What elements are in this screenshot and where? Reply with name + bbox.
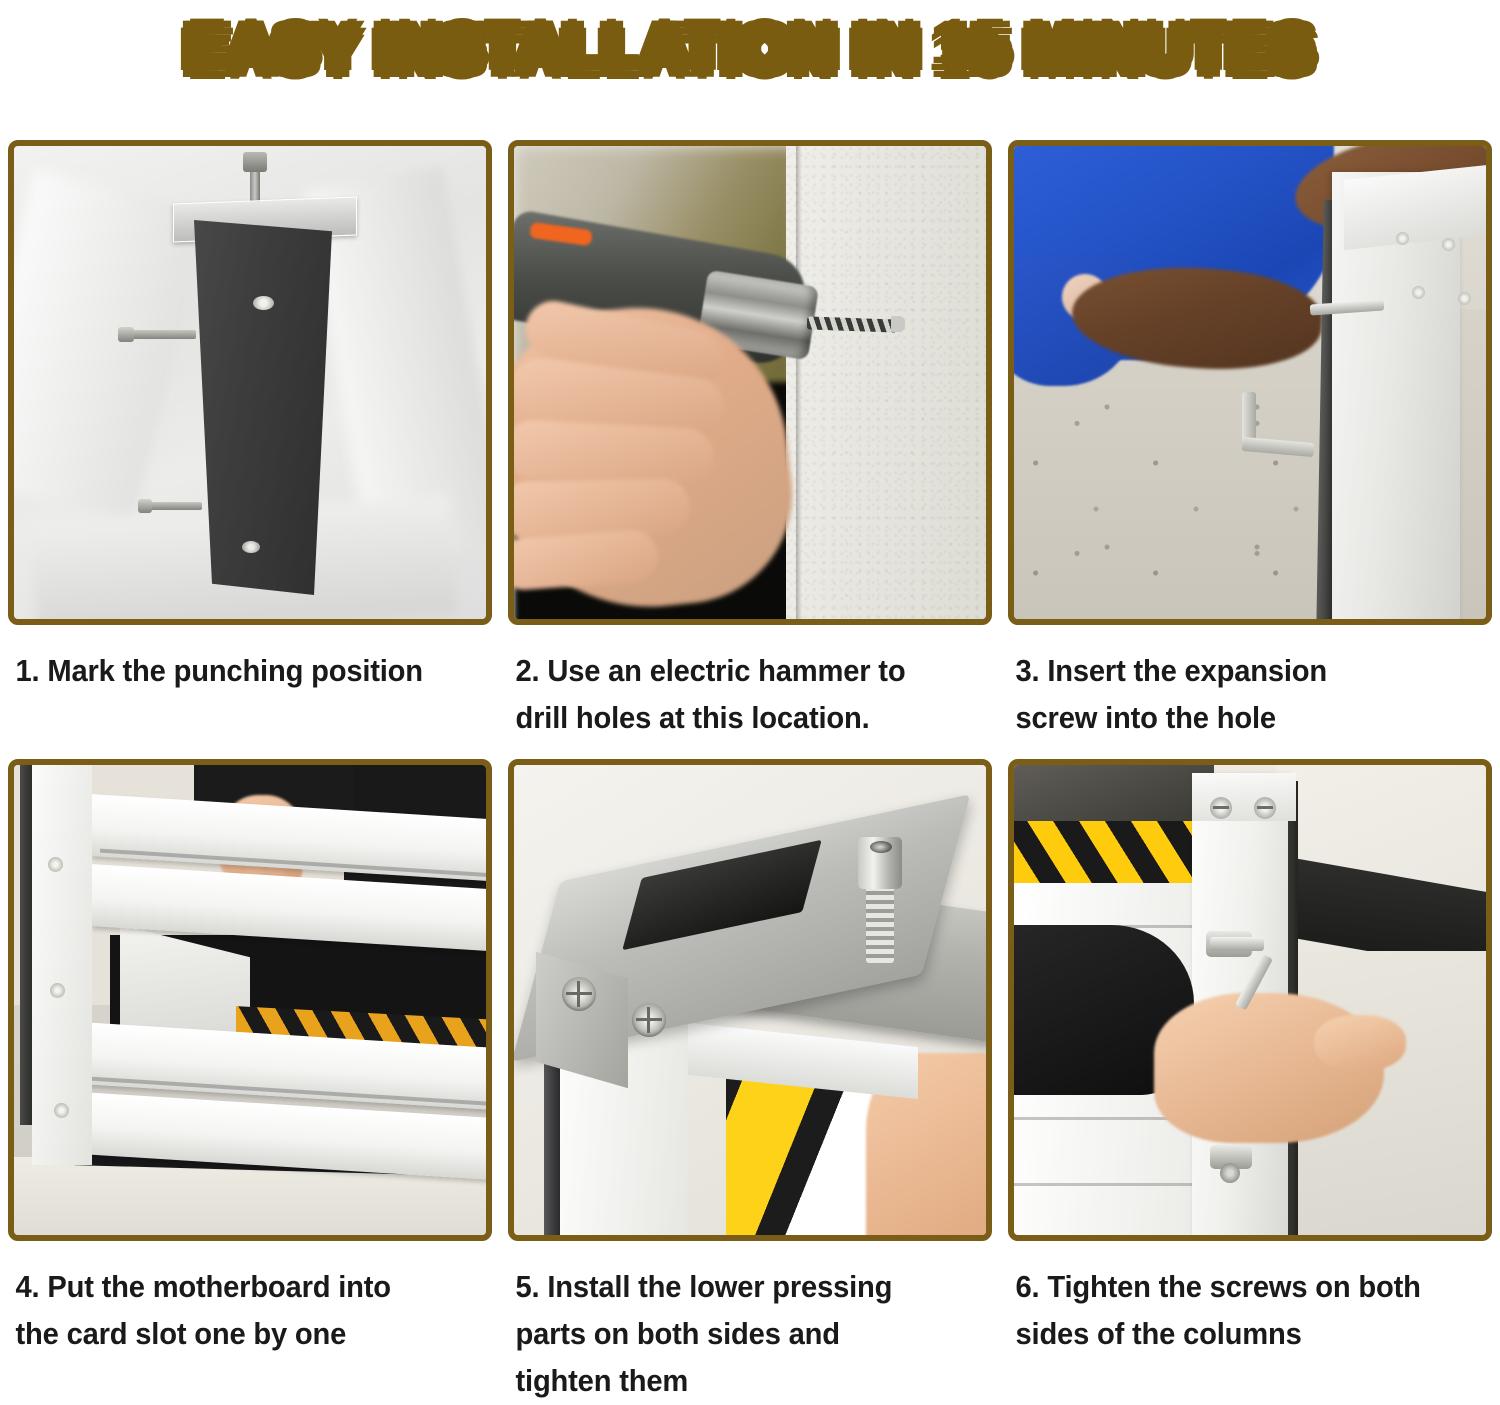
step-image-frame-5 [508, 759, 992, 1241]
step-photo-2 [514, 146, 986, 619]
step-image-frame-3 [1008, 140, 1492, 625]
step-image-frame-6 [1008, 759, 1492, 1241]
step-photo-1 [14, 146, 486, 619]
step-card-4: 4. Put the motherboard into the card slo… [8, 759, 492, 1404]
step-caption-1: 1. Mark the punching position [8, 625, 463, 694]
step-card-1: 1. Mark the punching position [8, 140, 492, 741]
step-card-5: 5. Install the lower pressing parts on b… [508, 759, 992, 1404]
step-image-frame-1 [8, 140, 492, 625]
step-photo-3 [1014, 146, 1486, 619]
step-card-3: 3. Insert the expansion screw into the h… [1008, 140, 1492, 741]
step-caption-2: 2. Use an electric hammer to drill holes… [508, 625, 963, 741]
step-image-frame-2 [508, 140, 992, 625]
step-card-6: 6. Tighten the screws on both sides of t… [1008, 759, 1492, 1404]
page-title: EASY INSTALLATION IN 15 MINUTES [186, 14, 1313, 84]
step-caption-5: 5. Install the lower pressing parts on b… [508, 1241, 963, 1404]
step-photo-4 [14, 765, 486, 1235]
step-photo-6 [1014, 765, 1486, 1235]
step-caption-4: 4. Put the motherboard into the card slo… [8, 1241, 463, 1357]
step-caption-3: 3. Insert the expansion screw into the h… [1008, 625, 1463, 741]
step-photo-5 [514, 765, 986, 1235]
header-banner: EASY INSTALLATION IN 15 MINUTES [0, 0, 1500, 98]
installation-steps-grid: 1. Mark the punching position 2. Use an … [8, 140, 1492, 1405]
step-image-frame-4 [8, 759, 492, 1241]
step-card-2: 2. Use an electric hammer to drill holes… [508, 140, 992, 741]
step-caption-6: 6. Tighten the screws on both sides of t… [1008, 1241, 1463, 1357]
